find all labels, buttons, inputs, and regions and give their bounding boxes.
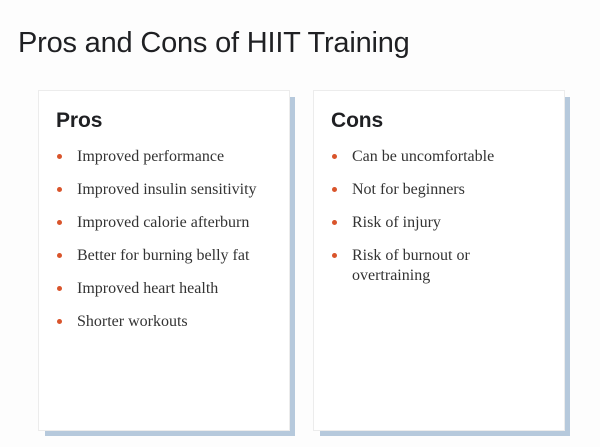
bullet-dot-icon — [332, 187, 337, 192]
bullet-dot-icon — [332, 220, 337, 225]
bullet-dot-icon — [332, 253, 337, 258]
bullet-dot-icon — [57, 286, 62, 291]
pros-card-heading: Pros — [56, 108, 273, 134]
list-item-label: Better for burning belly fat — [77, 246, 273, 266]
bullet-dot-icon — [57, 253, 62, 258]
list-item: Improved heart health — [56, 279, 273, 299]
bullet-dot-icon — [57, 154, 62, 159]
bullet-dot-icon — [57, 319, 62, 324]
list-item-label: Not for beginners — [352, 180, 548, 200]
list-item: Better for burning belly fat — [56, 246, 273, 266]
pros-card-content: Pros Improved performance Improved insul… — [39, 91, 289, 332]
pros-list: Improved performance Improved insulin se… — [56, 147, 273, 332]
bullet-dot-icon — [57, 220, 62, 225]
list-item-label: Improved performance — [77, 147, 273, 167]
list-item: Risk of injury — [331, 213, 548, 233]
list-item-label: Improved calorie afterburn — [77, 213, 273, 233]
list-item: Risk of burnout or overtraining — [331, 246, 548, 286]
list-item-label: Shorter workouts — [77, 312, 273, 332]
list-item: Improved performance — [56, 147, 273, 167]
list-item-label: Risk of burnout or overtraining — [352, 246, 548, 286]
list-item: Can be uncomfortable — [331, 147, 548, 167]
list-item: Not for beginners — [331, 180, 548, 200]
list-item-label: Improved heart health — [77, 279, 273, 299]
list-item: Improved calorie afterburn — [56, 213, 273, 233]
list-item-label: Improved insulin sensitivity — [77, 180, 273, 200]
bullet-dot-icon — [57, 187, 62, 192]
list-item-label: Can be uncomfortable — [352, 147, 548, 167]
pros-card: Pros Improved performance Improved insul… — [38, 90, 290, 431]
list-item-label: Risk of injury — [352, 213, 548, 233]
cons-card-heading: Cons — [331, 108, 548, 134]
list-item: Improved insulin sensitivity — [56, 180, 273, 200]
cards-container: Pros Improved performance Improved insul… — [0, 0, 600, 447]
list-item: Shorter workouts — [56, 312, 273, 332]
cons-list: Can be uncomfortable Not for beginners R… — [331, 147, 548, 286]
cons-card: Cons Can be uncomfortable Not for beginn… — [313, 90, 565, 431]
cons-card-content: Cons Can be uncomfortable Not for beginn… — [314, 91, 564, 286]
bullet-dot-icon — [332, 154, 337, 159]
